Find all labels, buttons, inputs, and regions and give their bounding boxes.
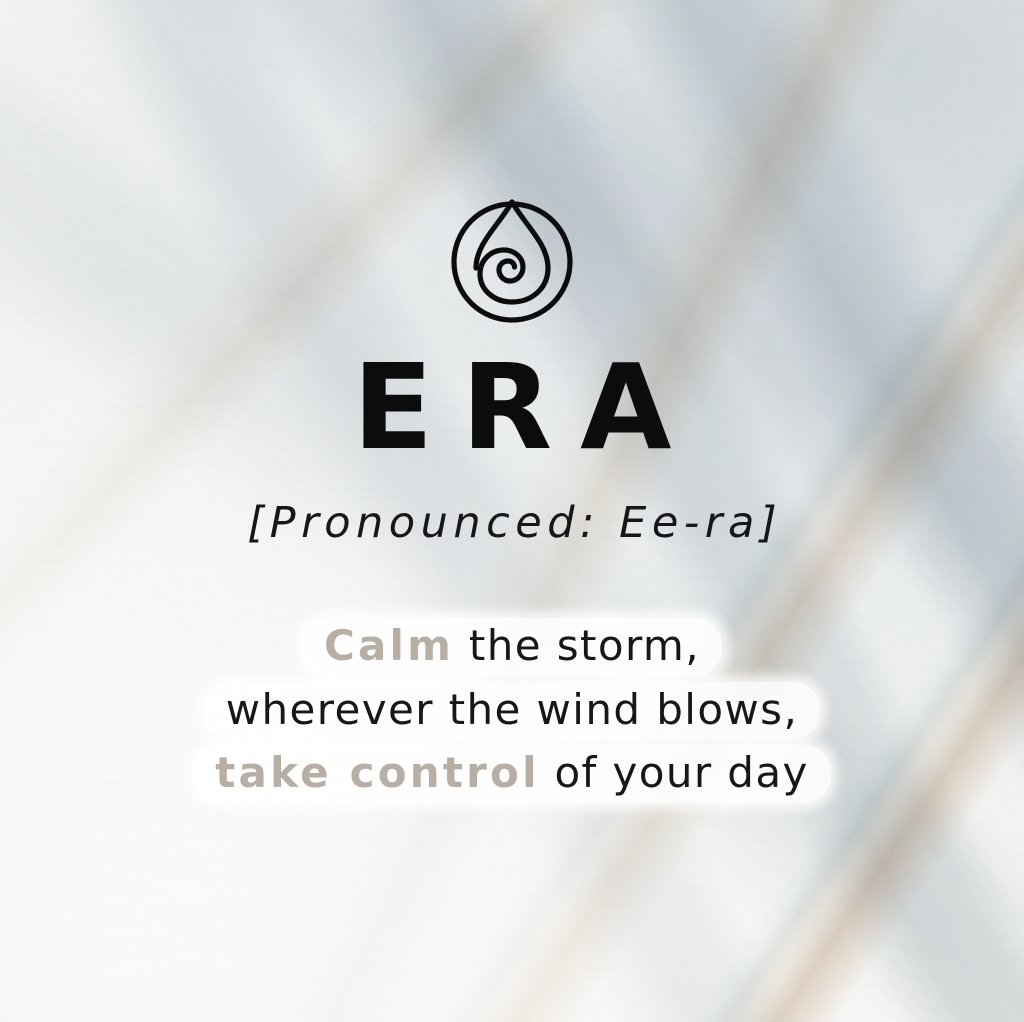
poster-content: ERA [Pronounced: Ee-ra] Calm the storm, … [0,0,1024,1022]
tagline-accent-calm: Calm [324,621,454,670]
pronunciation-text: [Pronounced: Ee-ra] [0,498,1024,549]
tagline-line-1: Calm the storm, [302,618,722,676]
air-nomad-spiral-teardrop-icon [448,192,576,328]
brand-logo [448,192,576,328]
tagline-accent-take-control: take control [215,748,539,797]
tagline: Calm the storm, wherever the wind blows,… [0,618,1024,803]
tagline-rest-1: the storm, [454,621,700,670]
tagline-rest-2: wherever the wind blows, [226,685,798,734]
tagline-line-2: wherever the wind blows, [204,682,820,740]
tagline-line-3: take control of your day [193,745,830,803]
tagline-rest-3: of your day [540,748,809,797]
page-title: ERA [0,348,1024,466]
brand-poster: ERA [Pronounced: Ee-ra] Calm the storm, … [0,0,1024,1022]
